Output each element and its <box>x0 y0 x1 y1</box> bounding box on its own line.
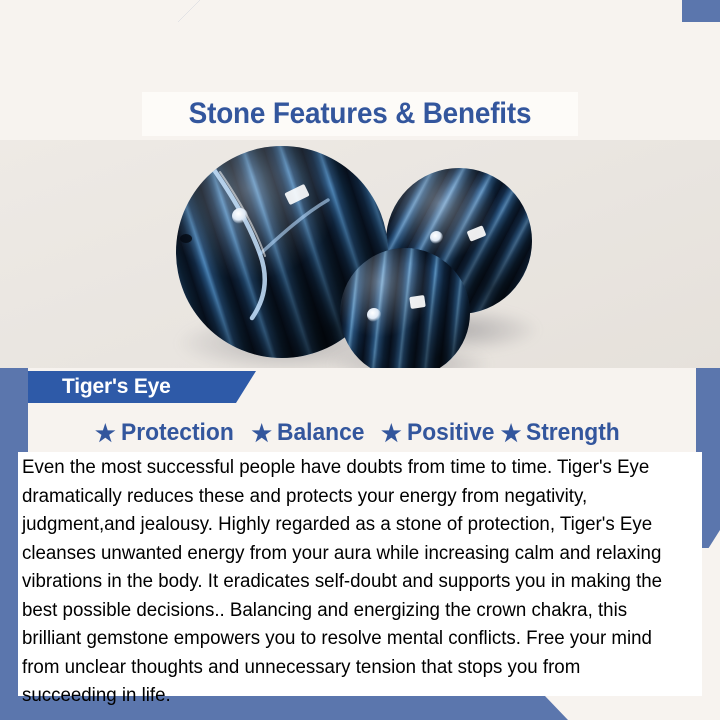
description-text: Even the most successful people have dou… <box>22 454 674 711</box>
star-icon: ★ <box>381 422 402 445</box>
page-title: Stone Features & Benefits <box>157 92 562 136</box>
sphere-glint <box>367 308 381 322</box>
benefit-label: Balance <box>277 419 364 447</box>
sphere-glint <box>430 231 443 244</box>
benefit-item: ★ Positive <box>381 419 499 447</box>
benefit-label: Positive <box>407 419 494 447</box>
star-icon: ★ <box>501 422 522 445</box>
benefit-label: Protection <box>121 419 234 447</box>
benefit-item: ★ Strength <box>501 419 625 447</box>
star-icon: ★ <box>251 422 272 445</box>
benefit-item: ★ Balance <box>251 419 369 447</box>
benefit-item: ★ Protection <box>95 419 239 447</box>
product-photo <box>0 136 720 368</box>
drill-hole <box>180 234 192 243</box>
sphere-highlight <box>409 295 426 309</box>
tigers-eye-sphere-small <box>340 248 470 368</box>
benefit-label: Strength <box>526 419 620 447</box>
sphere-glint <box>232 208 248 224</box>
stone-features-poster: BUDDHA STONES Stone Features & Benefits <box>0 0 720 720</box>
benefits-row: ★ Protection ★ Balance ★ Positive ★ Stre… <box>0 415 720 451</box>
star-icon: ★ <box>95 422 116 445</box>
stone-name-label: Tiger's Eye <box>62 371 171 403</box>
